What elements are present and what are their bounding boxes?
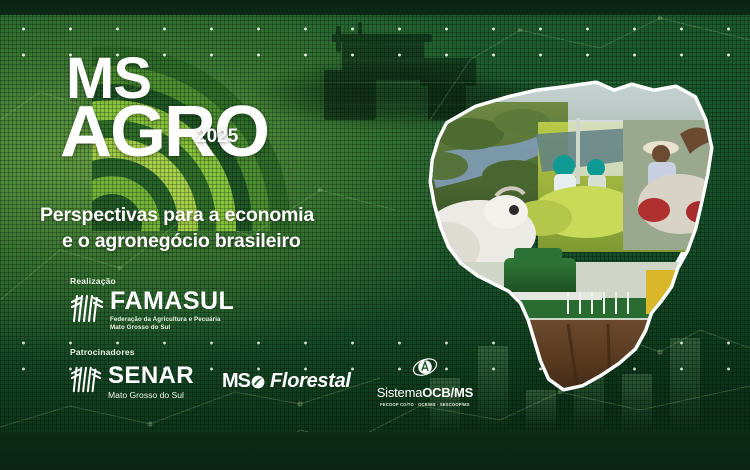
senar-subtitle: Mato Grosso do Sul [108,391,194,400]
famasul-subtitle-2: Mato Grosso do Sul [110,324,234,332]
credits-block: Realização FAMASUL [0,276,430,407]
poster-canvas: MS AGRO 2025 Perspectivas para a economi… [0,0,750,470]
ms-florestal-logo: MS Florestal [222,370,351,393]
ocb-globe-icon [411,357,439,384]
realizacao-label: Realização [70,276,430,286]
senar-name: SENAR [108,364,194,388]
ms-florestal-name: Florestal [270,370,351,393]
top-dark-strip [0,0,750,15]
patrocinadores-label: Patrocinadores [70,347,430,357]
ocb-prefix: Sistema [377,385,423,400]
ocb-name: OCB/MS [422,385,473,400]
famasul-subtitle-1: Federação da Agricultura e Pecuária [110,316,234,324]
famasul-logo: FAMASUL Federação da Agricultura e Pecuá… [0,289,430,331]
wheat-sheaf-icon [70,363,102,400]
sponsor-logos-row: SENAR Mato Grosso do Sul MS Florestal [70,357,430,407]
ocb-subtitle: FECOOP CO/TO · OCB/MS · SESCOOP/MS [380,402,469,407]
event-year: 2025 [196,126,238,148]
tagline: Perspectivas para a economia e o agroneg… [40,203,370,254]
ms-florestal-icon: MS [222,370,265,393]
ocb-ms-logo: SistemaOCB/MS FECOOP CO/TO · OCB/MS · SE… [377,357,473,407]
famasul-name: FAMASUL [110,289,234,314]
ms-florestal-prefix: MS [222,370,250,393]
bottom-dark-strip [0,432,750,470]
wheat-sheaf-icon [70,291,104,330]
senar-logo: SENAR Mato Grosso do Sul [70,363,194,400]
tagline-line-1: Perspectivas para a economia [40,203,370,229]
ms-state-map-collage [418,62,728,392]
wordmark: MS AGRO [66,52,396,166]
tagline-line-2: e o agronegócio brasileiro [62,229,370,255]
